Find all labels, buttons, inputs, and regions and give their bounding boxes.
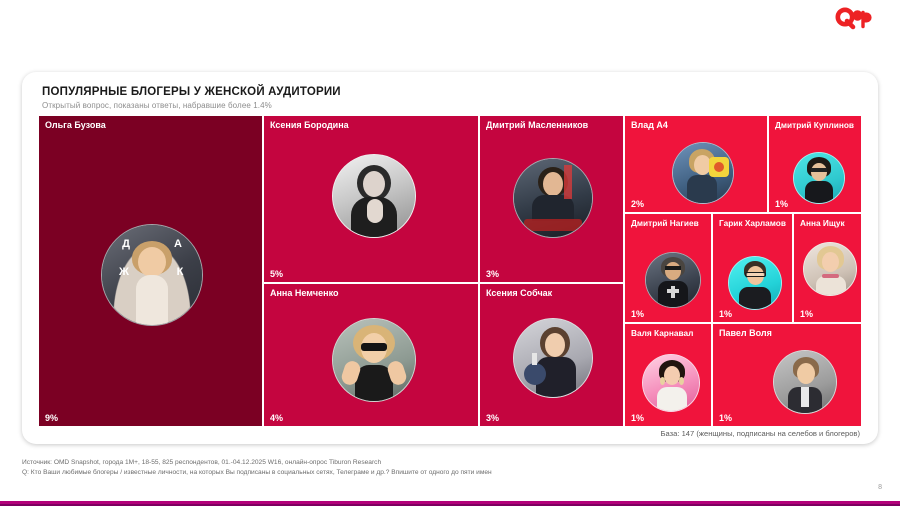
tile-label: Валя Карнавал — [631, 328, 707, 339]
page-subtitle: Открытый вопрос, показаны ответы, набрав… — [42, 101, 272, 110]
page-number: 8 — [878, 484, 882, 491]
treemap-tile-ksenia-sobchak[interactable]: Ксения Собчак 3% — [479, 283, 624, 427]
treemap-tile-valya-karnaval[interactable]: Валя Карнавал 1% — [624, 323, 712, 427]
tile-value: 5% — [270, 269, 283, 279]
tile-label: Дмитрий Масленников — [486, 120, 619, 132]
tile-label: Гарик Харламов — [717, 218, 788, 229]
tile-value: 9% — [45, 413, 58, 423]
avatar — [672, 142, 734, 204]
footer-line-question: Q: Кто Ваши любимые блогеры / известные … — [22, 468, 492, 478]
treemap-tile-olga-buzova[interactable]: Ольга Бузова Д Ж А К 9% — [38, 115, 263, 427]
tile-label: Дмитрий Нагиев — [631, 218, 707, 229]
treemap-chart: Ольга Бузова Д Ж А К 9% Ксения Бородина — [38, 115, 862, 427]
treemap-tile-vlad-a4[interactable]: Влад А4 2% — [624, 115, 768, 213]
treemap-tile-dmitriy-nagiev[interactable]: Дмитрий Нагиев 1% — [624, 213, 712, 323]
avatar — [645, 252, 701, 308]
tile-label: Ольга Бузова — [45, 120, 258, 132]
avatar — [513, 318, 593, 398]
footer-source: Источник: OMD Snapshot, города 1M+, 18-5… — [22, 458, 492, 478]
bottom-bar — [0, 501, 900, 506]
tile-value: 1% — [775, 199, 788, 209]
avatar: Д Ж А К — [101, 224, 203, 326]
avatar — [332, 318, 416, 402]
tile-label: Влад А4 — [631, 120, 763, 132]
tile-label: Ксения Собчак — [486, 288, 619, 300]
avatar — [728, 256, 782, 310]
tile-value: 3% — [486, 269, 499, 279]
avatar — [332, 154, 416, 238]
treemap-tile-garik-kharlamov[interactable]: Гарик Харламов 1% — [712, 213, 793, 323]
avatar — [773, 350, 837, 414]
avatar — [513, 158, 593, 238]
tile-value: 1% — [719, 413, 732, 423]
tile-value: 3% — [486, 413, 499, 423]
tile-label: Ксения Бородина — [270, 120, 474, 132]
footer-line-source: Источник: OMD Snapshot, города 1M+, 18-5… — [22, 458, 492, 468]
treemap-tile-anna-ishchuk[interactable]: Анна Ищук 1% — [793, 213, 862, 323]
tile-value: 1% — [631, 413, 644, 423]
avatar — [793, 152, 845, 204]
omd-logo — [834, 6, 878, 30]
treemap-tile-ksenia-borodina[interactable]: Ксения Бородина 5% — [263, 115, 479, 283]
tile-value: 1% — [800, 309, 813, 319]
avatar — [803, 242, 857, 296]
tile-value: 1% — [719, 309, 732, 319]
tile-label: Павел Воля — [719, 328, 857, 340]
treemap-tile-pavel-volya[interactable]: Павел Воля 1% — [712, 323, 862, 427]
tile-value: 4% — [270, 413, 283, 423]
treemap-tile-dmitriy-maslennikov[interactable]: Дмитрий Масленников 3% — [479, 115, 624, 283]
tile-label: Дмитрий Куплинов — [775, 120, 857, 131]
chart-card: ПОПУЛЯРНЫЕ БЛОГЕРЫ У ЖЕНСКОЙ АУДИТОРИИ О… — [22, 72, 878, 444]
tile-label: Анна Ищук — [800, 218, 857, 229]
tile-value: 1% — [631, 309, 644, 319]
tile-label: Анна Немченко — [270, 288, 474, 300]
treemap-tile-dmitriy-kuplinov[interactable]: Дмитрий Куплинов 1% — [768, 115, 862, 213]
avatar — [642, 354, 700, 412]
base-note: База: 147 (женщины, подписаны на селебов… — [661, 429, 860, 438]
page-title: ПОПУЛЯРНЫЕ БЛОГЕРЫ У ЖЕНСКОЙ АУДИТОРИИ — [42, 86, 341, 98]
treemap-tile-anna-nemchenko[interactable]: Анна Немченко 4% — [263, 283, 479, 427]
tile-value: 2% — [631, 199, 644, 209]
